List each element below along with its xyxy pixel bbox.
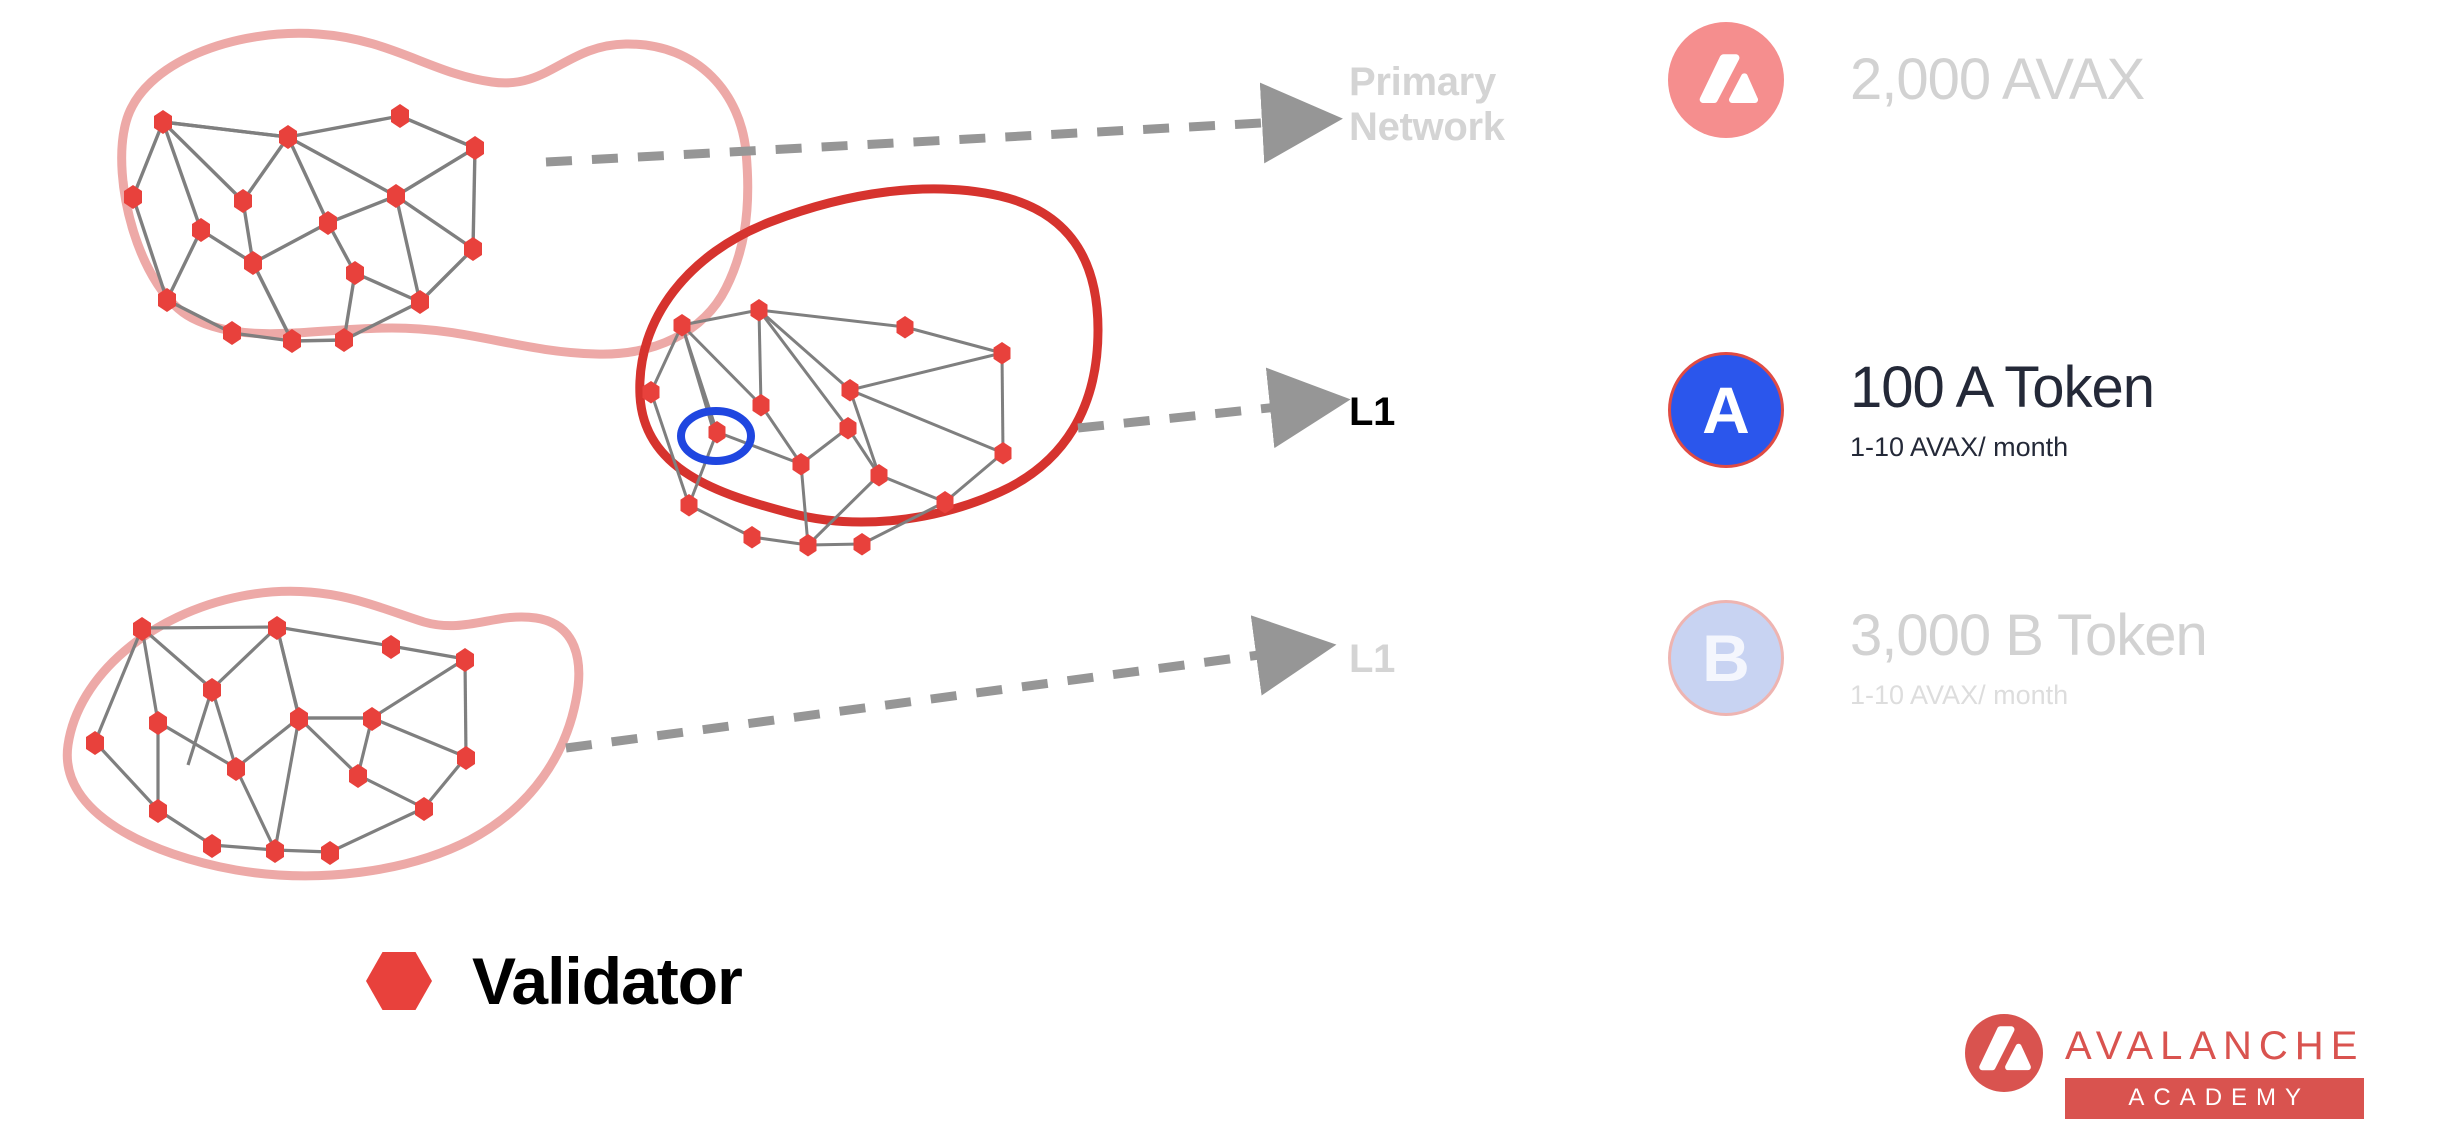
diagram-canvas: Primary Network L1 L1 2,000 AVAX A 100 A… — [0, 0, 2444, 1148]
stake-subtitle-token-b: 1-10 AVAX/ month — [1850, 681, 2207, 711]
stake-text-token-b: 3,000 B Token 1-10 AVAX/ month — [1850, 606, 2207, 711]
logo-wordmark-block: AVALANCHE ACADEMY — [2065, 1014, 2364, 1119]
arrow-to-l1-a — [1078, 406, 1288, 428]
logo-wordmark-academy: ACADEMY — [2119, 1084, 2310, 1111]
network-label-l1-a: L1 — [1349, 390, 1395, 435]
logo-wordmark-avalanche: AVALANCHE — [2065, 1014, 2364, 1066]
primary-network-blob — [122, 33, 748, 354]
primary-network-nodes — [124, 104, 484, 353]
avalanche-logo-icon — [1694, 51, 1758, 109]
network-label-primary-network: Primary Network — [1349, 60, 1505, 150]
token-a-badge: A — [1668, 352, 1784, 468]
stake-text-primary: 2,000 AVAX — [1850, 50, 2144, 111]
stake-text-token-a: 100 A Token 1-10 AVAX/ month — [1850, 358, 2154, 463]
stake-title-token-b: 3,000 B Token — [1850, 606, 2207, 667]
stake-row-token-a: A 100 A Token 1-10 AVAX/ month — [1668, 352, 2154, 468]
l1-b-graph — [67, 591, 579, 876]
avax-badge — [1668, 22, 1784, 138]
stake-title-token-a: 100 A Token — [1850, 358, 2154, 419]
primary-network-graph — [122, 33, 748, 354]
validator-legend: Validator — [366, 948, 742, 1014]
network-label-l1-b: L1 — [1349, 637, 1395, 682]
avalanche-academy-logo: AVALANCHE ACADEMY — [1965, 1014, 2364, 1119]
stake-title-primary: 2,000 AVAX — [1850, 50, 2144, 111]
arrow-to-primary-network — [546, 122, 1280, 162]
stake-row-token-b: B 3,000 B Token 1-10 AVAX/ month — [1668, 600, 2207, 716]
token-a-letter: A — [1702, 377, 1750, 443]
hexagon-icon — [366, 952, 432, 1010]
token-b-badge: B — [1668, 600, 1784, 716]
l1-a-graph — [640, 189, 1098, 557]
l1-a-blob — [640, 189, 1098, 522]
logo-academy-plate: ACADEMY — [2065, 1078, 2364, 1119]
avalanche-logo-icon — [1965, 1014, 2043, 1092]
arrow-to-l1-b — [566, 653, 1274, 748]
stake-subtitle-token-a: 1-10 AVAX/ month — [1850, 433, 2154, 463]
stake-row-primary: 2,000 AVAX — [1668, 22, 2144, 138]
validator-legend-label: Validator — [472, 948, 742, 1014]
token-b-letter: B — [1702, 625, 1750, 691]
l1-b-edges — [95, 627, 466, 852]
